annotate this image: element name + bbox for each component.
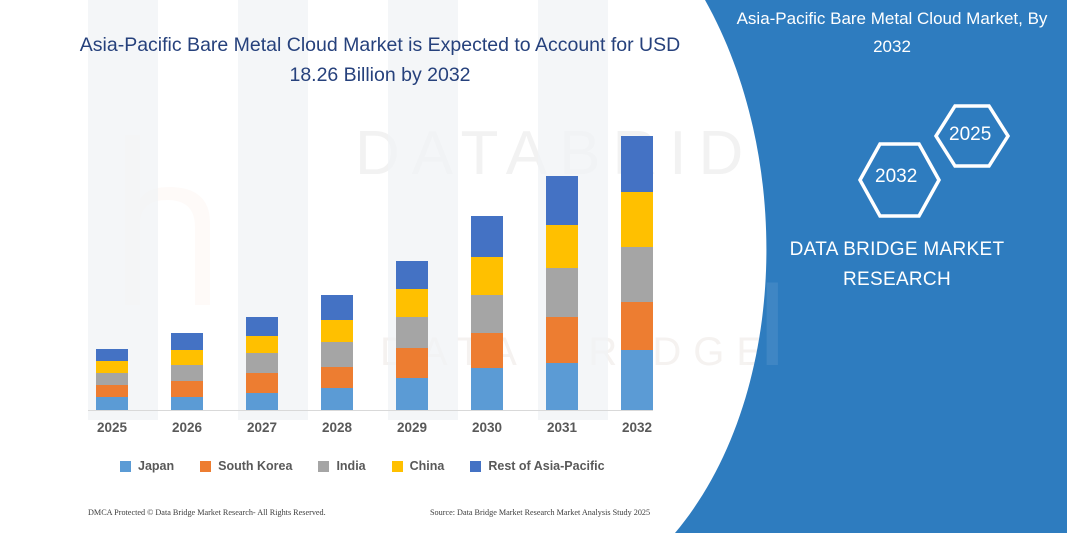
x-axis-label-2030: 2030 (457, 420, 517, 435)
bar-segment-rest-of-asia-pacific (396, 261, 428, 289)
bar-segment-india (246, 353, 278, 373)
brand-panel-title: Asia-Pacific Bare Metal Cloud Market, By… (727, 5, 1057, 61)
bar-segment-china (471, 257, 503, 295)
bar-segment-india (471, 295, 503, 333)
x-axis-label-2032: 2032 (607, 420, 667, 435)
bar-segment-japan (171, 397, 203, 410)
hex-label-2032: 2032 (875, 166, 917, 188)
bar-segment-japan (396, 378, 428, 410)
bar-segment-india (171, 365, 203, 381)
legend-label: Japan (138, 459, 174, 473)
x-axis-label-2028: 2028 (307, 420, 367, 435)
hexagon-pair-icon (777, 100, 1057, 230)
x-axis-line (88, 410, 653, 411)
bar-segment-south-korea (621, 302, 653, 350)
bar-segment-rest-of-asia-pacific (321, 295, 353, 320)
bar-segment-japan (621, 350, 653, 410)
x-axis-label-2031: 2031 (532, 420, 592, 435)
legend-item-south-korea[interactable]: South Korea (200, 459, 292, 473)
footer-source: Source: Data Bridge Market Research Mark… (430, 508, 650, 517)
legend-swatch-icon (318, 461, 329, 472)
bar-segment-rest-of-asia-pacific (96, 349, 128, 361)
bar-column (546, 0, 578, 410)
legend-swatch-icon (392, 461, 403, 472)
bar-column (246, 0, 278, 410)
bar-segment-india (396, 317, 428, 348)
chart-panel: DATABRIDGE DATA BRIDGE RESEARCH Asia-Pac… (0, 0, 760, 533)
bar-stack (621, 136, 653, 410)
legend-item-china[interactable]: China (392, 459, 445, 473)
bar-stack (171, 333, 203, 410)
bar-segment-india (96, 373, 128, 385)
legend-swatch-icon (200, 461, 211, 472)
bar-segment-china (396, 289, 428, 317)
bar-segment-rest-of-asia-pacific (246, 317, 278, 336)
footer-copyright: DMCA Protected © Data Bridge Market Rese… (88, 508, 326, 517)
brand-panel: RI Asia-Pacific Bare Metal Cloud Market,… (667, 0, 1067, 533)
brand-name-line2: RESEARCH (737, 265, 1057, 295)
bar-stack (546, 176, 578, 410)
legend-label: China (410, 459, 445, 473)
bar-column (471, 0, 503, 410)
bar-segment-india (546, 268, 578, 317)
bar-segment-china (171, 350, 203, 365)
bar-segment-china (546, 225, 578, 268)
legend-label: Rest of Asia-Pacific (488, 459, 604, 473)
hex-label-2025: 2025 (949, 124, 991, 146)
x-axis-tick-labels: 20252026202720282029203020312032 (0, 420, 700, 446)
bar-stack (96, 349, 128, 410)
bar-segment-japan (546, 363, 578, 410)
chart-plot-area (0, 0, 700, 420)
legend-swatch-icon (470, 461, 481, 472)
legend-label: India (336, 459, 365, 473)
bar-stack (396, 261, 428, 410)
bar-segment-china (321, 320, 353, 342)
x-axis-label-2029: 2029 (382, 420, 442, 435)
bar-segment-india (321, 342, 353, 367)
bar-column (171, 0, 203, 410)
bar-segment-india (621, 247, 653, 302)
bar-segment-south-korea (321, 367, 353, 388)
legend-swatch-icon (120, 461, 131, 472)
legend-item-india[interactable]: India (318, 459, 365, 473)
chart-legend: JapanSouth KoreaIndiaChinaRest of Asia-P… (120, 455, 660, 477)
bar-column (396, 0, 428, 410)
bar-segment-china (246, 336, 278, 353)
x-axis-label-2027: 2027 (232, 420, 292, 435)
x-axis-label-2026: 2026 (157, 420, 217, 435)
bar-segment-rest-of-asia-pacific (471, 216, 503, 257)
brand-name-line1: DATA BRIDGE MARKET (737, 235, 1057, 265)
bar-segment-south-korea (171, 381, 203, 397)
bar-segment-japan (471, 368, 503, 410)
bar-segment-china (96, 361, 128, 373)
bar-column (96, 0, 128, 410)
x-axis-label-2025: 2025 (82, 420, 142, 435)
bar-column (621, 0, 653, 410)
infographic-page: DATABRIDGE DATA BRIDGE RESEARCH Asia-Pac… (0, 0, 1067, 533)
bar-segment-japan (96, 397, 128, 410)
footer: DMCA Protected © Data Bridge Market Rese… (88, 508, 688, 522)
bar-segment-south-korea (471, 333, 503, 368)
bar-segment-south-korea (246, 373, 278, 393)
bar-column (321, 0, 353, 410)
bar-segment-japan (246, 393, 278, 410)
bar-stack (321, 295, 353, 410)
bar-segment-south-korea (96, 385, 128, 397)
bar-segment-rest-of-asia-pacific (546, 176, 578, 225)
hexagon-group: 2025 2032 (777, 100, 1057, 230)
brand-name: DATA BRIDGE MARKET RESEARCH (737, 235, 1057, 295)
legend-label: South Korea (218, 459, 292, 473)
bar-segment-rest-of-asia-pacific (621, 136, 653, 192)
bar-segment-south-korea (396, 348, 428, 378)
bar-segment-japan (321, 388, 353, 410)
bar-segment-china (621, 192, 653, 247)
bar-segment-south-korea (546, 317, 578, 363)
legend-item-rest-of-asia-pacific[interactable]: Rest of Asia-Pacific (470, 459, 604, 473)
bar-stack (471, 216, 503, 410)
bar-stack (246, 317, 278, 410)
legend-item-japan[interactable]: Japan (120, 459, 174, 473)
bar-segment-rest-of-asia-pacific (171, 333, 203, 350)
